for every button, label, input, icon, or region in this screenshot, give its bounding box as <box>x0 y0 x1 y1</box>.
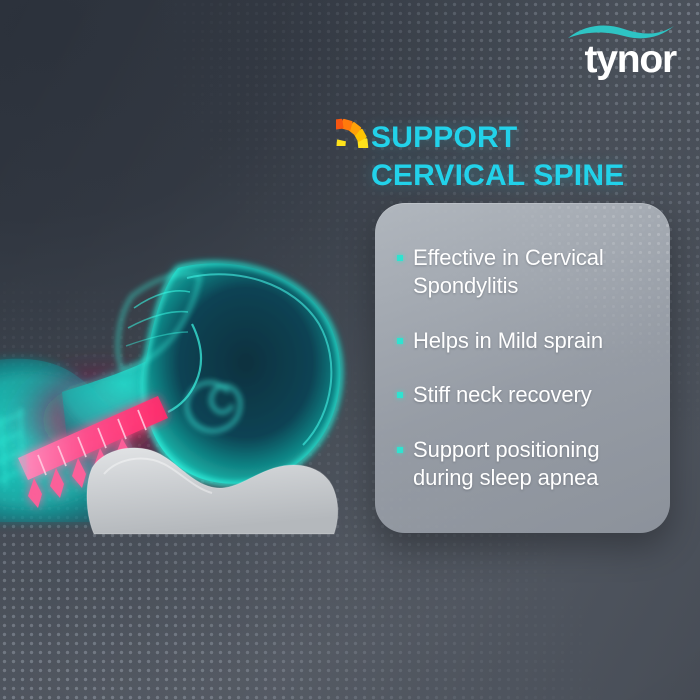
feature-text: Support positioning during sleep apnea <box>413 436 648 491</box>
product-banner: tynor SUPPORT CERV <box>0 0 700 700</box>
feature-text: Stiff neck recovery <box>413 381 592 409</box>
xray-head-pillow-svg <box>0 250 392 560</box>
list-item: Support positioning during sleep apnea <box>397 436 648 491</box>
brand-logo: tynor <box>516 22 676 90</box>
feature-text: Effective in Cervical Spondylitis <box>413 244 648 299</box>
list-item: Effective in Cervical Spondylitis <box>397 244 648 299</box>
feature-text: Helps in Mild sprain <box>413 327 603 355</box>
bullet-icon <box>397 392 403 398</box>
brand-wordmark: tynor <box>516 40 676 79</box>
bullet-icon <box>397 338 403 344</box>
xray-illustration <box>0 250 392 560</box>
list-item: Helps in Mild sprain <box>397 327 648 355</box>
features-panel: Effective in Cervical Spondylitis Helps … <box>375 203 670 533</box>
list-item: Stiff neck recovery <box>397 381 648 409</box>
page-title: SUPPORT CERVICAL SPINE <box>371 119 624 195</box>
bullet-icon <box>397 447 403 453</box>
bullet-icon <box>397 255 403 261</box>
